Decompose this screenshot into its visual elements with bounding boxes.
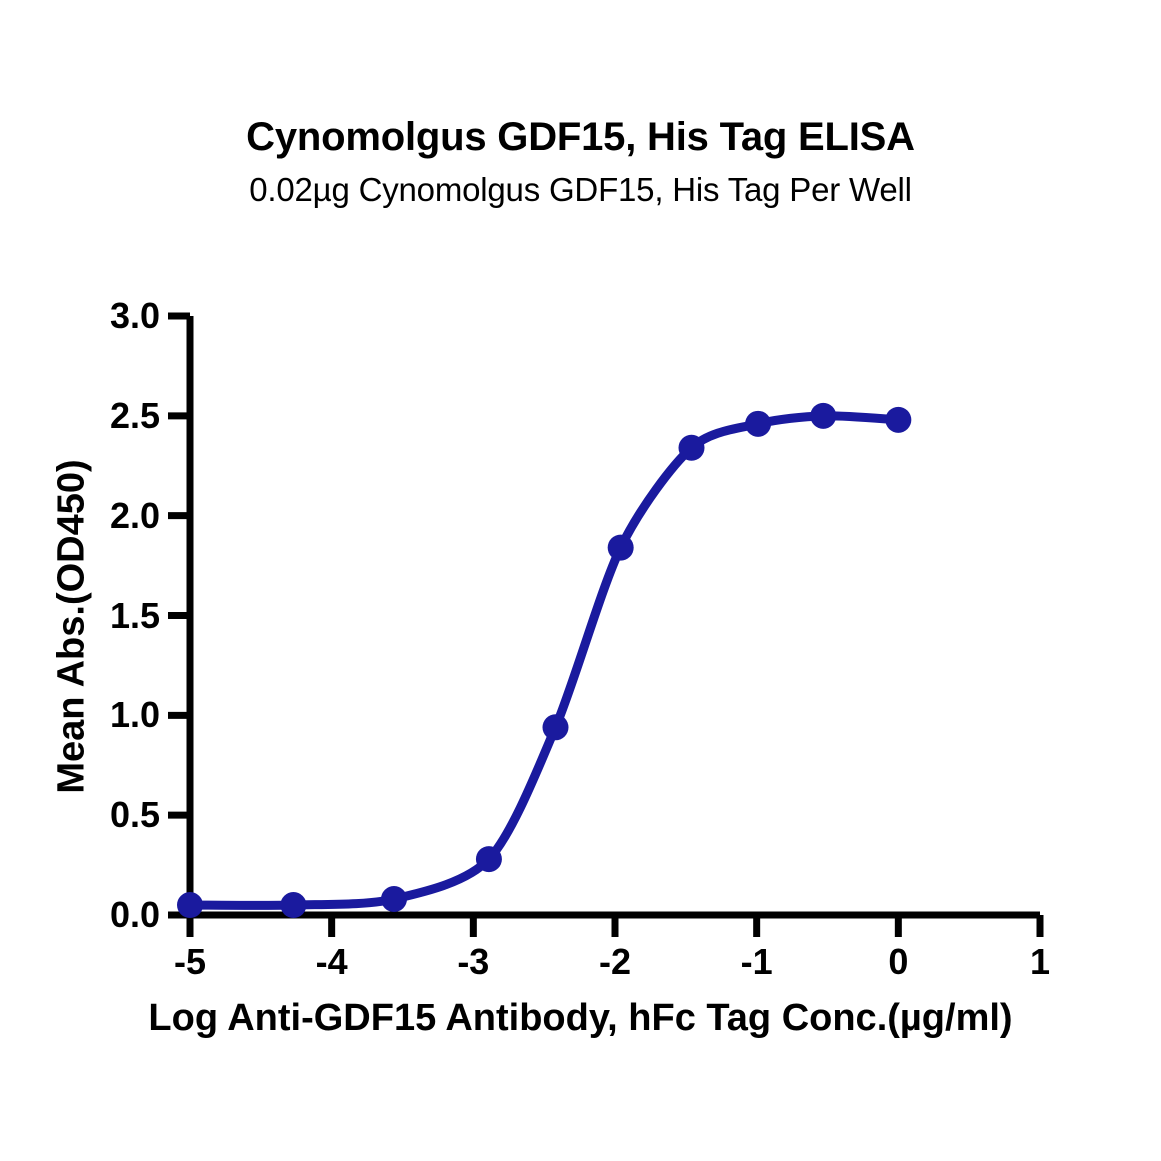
y-tick-label: 0.5 [45,794,160,836]
data-point-marker [476,846,502,872]
x-axis-title: Log Anti-GDF15 Antibody, hFc Tag Conc.(µ… [0,997,1161,1040]
axis-lines [190,316,1040,915]
data-point-marker [810,403,836,429]
x-tick-label: -4 [316,941,348,983]
y-tick-label: 1.5 [45,595,160,637]
y-tick-label: 2.5 [45,395,160,437]
data-point-marker [543,714,569,740]
y-tick-label: 2.0 [45,495,160,537]
y-tick-label: 0.0 [45,894,160,936]
data-point-marker [381,886,407,912]
data-series-group [177,403,911,918]
elisa-chart-figure: Cynomolgus GDF15, His Tag ELISA 0.02µg C… [0,0,1161,1161]
x-tick-label: -5 [174,941,206,983]
x-tick-label: -2 [599,941,631,983]
data-point-marker [885,407,911,433]
data-point-marker [745,411,771,437]
y-tick-label: 3.0 [45,295,160,337]
series-curve [190,416,898,906]
data-point-marker [280,892,306,918]
plot-area [0,0,1161,1161]
data-point-marker [608,535,634,561]
x-tick-label: -1 [741,941,773,983]
x-tick-label: -3 [457,941,489,983]
y-tick-label: 1.0 [45,694,160,736]
x-tick-label: 1 [1030,941,1050,983]
data-point-marker [679,435,705,461]
data-point-marker [177,892,203,918]
series-markers [177,403,911,918]
x-tick-label: 0 [888,941,908,983]
